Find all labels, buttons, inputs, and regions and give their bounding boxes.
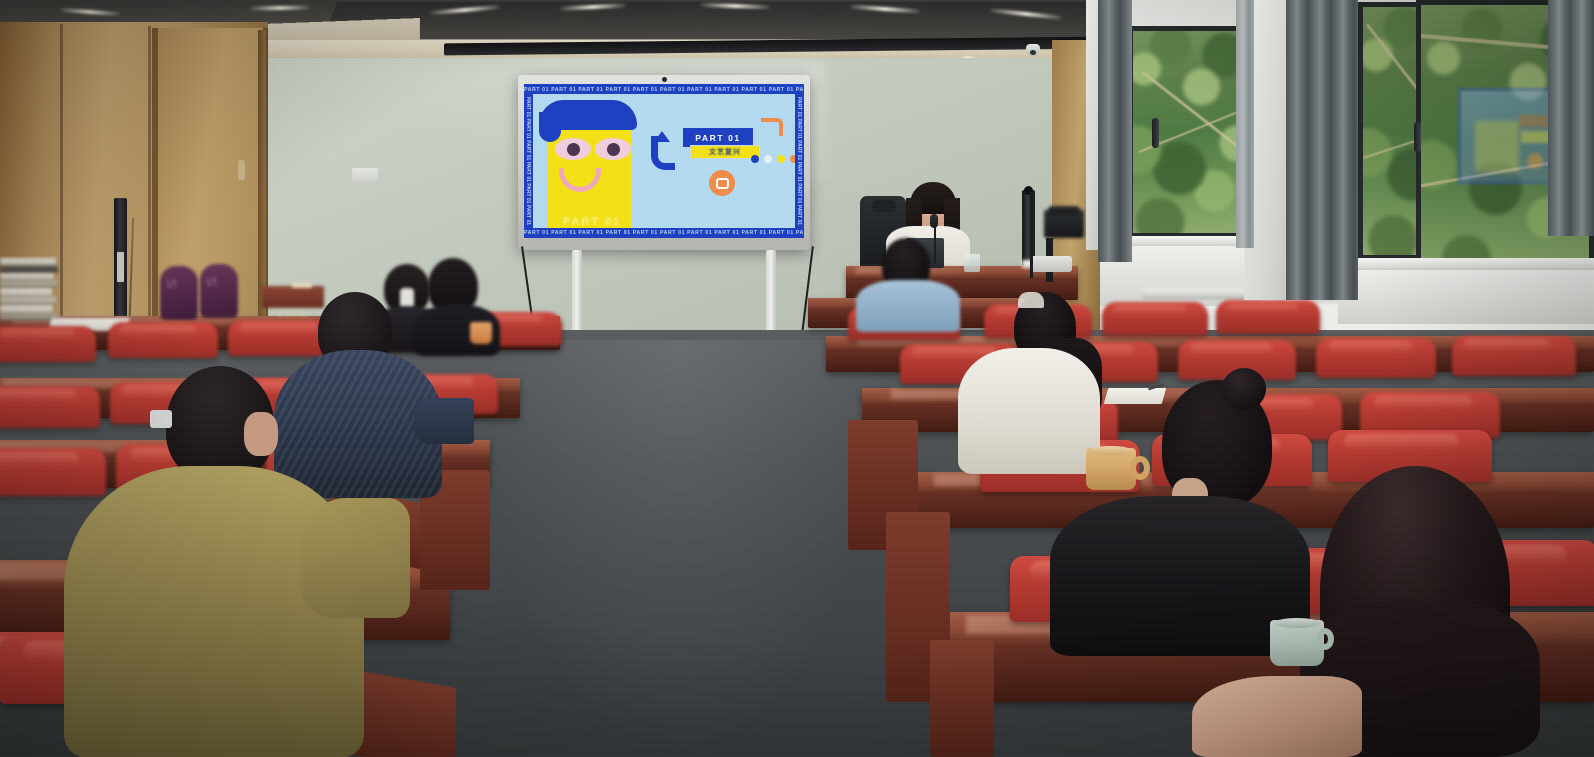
curved-arrow-head-icon (654, 131, 670, 142)
student-olive-arm (300, 498, 410, 618)
microphone[interactable] (930, 214, 938, 228)
image-placeholder-inner (716, 178, 729, 189)
book (0, 314, 58, 320)
chair-highlight (0, 389, 76, 402)
slide-pagination-dots (751, 155, 795, 163)
interactive-display[interactable]: PART 01 PART 01 PART 01 PART 01 PART 01 … (518, 75, 810, 250)
dot-light (764, 155, 772, 163)
curtain-right[interactable] (1548, 0, 1594, 236)
wood-panel-seam (148, 26, 151, 348)
book (0, 297, 56, 304)
chair-highlight (1226, 303, 1299, 313)
slide-marquee-left-text: PART 01 PART 01 PART 01 PART 01 PART 01 … (526, 97, 532, 225)
purple-backpack-right: \/\ (200, 264, 238, 318)
book (0, 305, 53, 313)
av-equipment[interactable] (1044, 210, 1084, 238)
student-white-cardigan-torso (958, 348, 1100, 474)
student-white-headband (1018, 292, 1044, 308)
boom-stand-pole (1030, 192, 1033, 278)
presenter-chair-headrest (872, 200, 896, 212)
chair[interactable] (1452, 336, 1576, 376)
chair-highlight (1190, 343, 1273, 355)
orange-cup (470, 322, 492, 344)
chair[interactable] (0, 326, 96, 362)
chair[interactable] (0, 386, 100, 428)
book (0, 266, 58, 272)
dot-yellow (777, 155, 785, 163)
curtain-sheer[interactable] (1236, 0, 1254, 248)
box-label-text: 宝宝科技 (262, 309, 324, 319)
mascot-ghost-text: PART 01 (563, 216, 621, 228)
chair-highlight (239, 323, 317, 334)
book-stack (0, 258, 60, 320)
mascot-pupil-left (567, 143, 580, 156)
door-handle[interactable] (238, 160, 245, 180)
purple-backpack-left: \/\ (160, 266, 198, 320)
chair-highlight (1, 329, 75, 340)
dot-orange (790, 155, 795, 163)
door-jamb (258, 30, 266, 330)
tan-mug-rim (1090, 446, 1132, 455)
window-apron-2 (1338, 270, 1594, 324)
slide-marquee-right: PART 01 PART 01 PART 01 PART 01 PART 01 … (795, 84, 804, 238)
chair[interactable] (1316, 338, 1436, 378)
mascot-hair-sidelock (539, 112, 561, 142)
slide-marquee-top: PART 01 PART 01 PART 01 PART 01 PART 01 … (524, 85, 804, 94)
chair[interactable] (1216, 300, 1320, 334)
slide-subtitle-banner: 文艺复兴 (690, 145, 760, 159)
floor-light-reflection (470, 340, 890, 757)
speaker-label-left (117, 252, 124, 282)
corner-bracket-decoration (761, 118, 783, 136)
tan-mug-handle (1130, 456, 1150, 480)
keyboard[interactable] (1142, 288, 1250, 299)
chair-highlight (0, 452, 79, 466)
book (0, 281, 57, 287)
bag-logo: \/\ (166, 276, 192, 298)
celadon-mug-rim (1274, 618, 1320, 628)
chair-highlight (1344, 434, 1459, 450)
slide-canvas: PART 01 PART 01 文艺复兴 (533, 94, 795, 228)
slide-subtitle-text: 文艺复兴 (709, 147, 741, 157)
curtain-middle[interactable] (1286, 0, 1358, 300)
mascot-eye-left (555, 138, 591, 160)
chair[interactable] (108, 322, 218, 358)
av-base (1030, 256, 1072, 272)
notebook-open (1104, 388, 1167, 404)
chair-armrest (930, 640, 994, 757)
mascot-eye-right (595, 138, 631, 160)
chair-highlight (1464, 339, 1551, 351)
microphone-stand (934, 222, 936, 264)
bag-logo: \/\ (206, 274, 232, 296)
display-screen[interactable]: PART 01 PART 01 PART 01 PART 01 PART 01 … (524, 84, 804, 238)
student-blue-torso (856, 280, 960, 332)
celadon-mug-handle (1316, 628, 1334, 650)
student-olive-ear (244, 412, 278, 456)
slide-marquee-right-text: PART 01 PART 01 PART 01 PART 01 PART 01 … (797, 97, 803, 225)
box-label-card (292, 283, 312, 288)
classroom-scene: PART 01 PART 01 PART 01 PART 01 PART 01 … (0, 0, 1594, 757)
camera-lens-icon (1030, 50, 1036, 55)
chair[interactable] (1102, 302, 1208, 336)
book (0, 288, 52, 296)
dot-active (751, 155, 759, 163)
window-handle-1[interactable] (1152, 118, 1159, 148)
slide-marquee-left: PART 01 PART 01 PART 01 PART 01 PART 01 … (524, 84, 533, 238)
chair-highlight (1328, 341, 1412, 353)
display-camera-icon (662, 77, 667, 82)
window-handle-2[interactable] (1414, 122, 1421, 152)
chair-highlight (119, 325, 196, 336)
glass-cup (964, 254, 980, 272)
curtain-left[interactable] (1098, 0, 1132, 262)
slide-marquee-bottom: PART 01 PART 01 PART 01 PART 01 PART 01 … (524, 228, 804, 237)
light-switch-plate[interactable] (352, 168, 378, 184)
chair[interactable] (0, 448, 106, 496)
student-navy-arm (414, 398, 474, 444)
student-longhair-shoulder (1192, 676, 1362, 757)
image-placeholder-icon (709, 170, 735, 196)
mascot-pupil-right (607, 143, 620, 156)
student-olive-hand-item (150, 410, 172, 428)
wooden-box: 宝宝科技 (262, 286, 324, 308)
book (0, 273, 54, 280)
book (0, 258, 56, 265)
slide-part-label-text: PART 01 (695, 133, 741, 143)
av-equipment-handset[interactable] (1048, 206, 1080, 214)
chair-highlight (1113, 305, 1187, 315)
window-pane-1 (1128, 26, 1244, 238)
wood-panel-seam (60, 24, 63, 350)
student-black-bun-hairbun (1222, 368, 1266, 410)
chair-highlight (1374, 396, 1472, 410)
